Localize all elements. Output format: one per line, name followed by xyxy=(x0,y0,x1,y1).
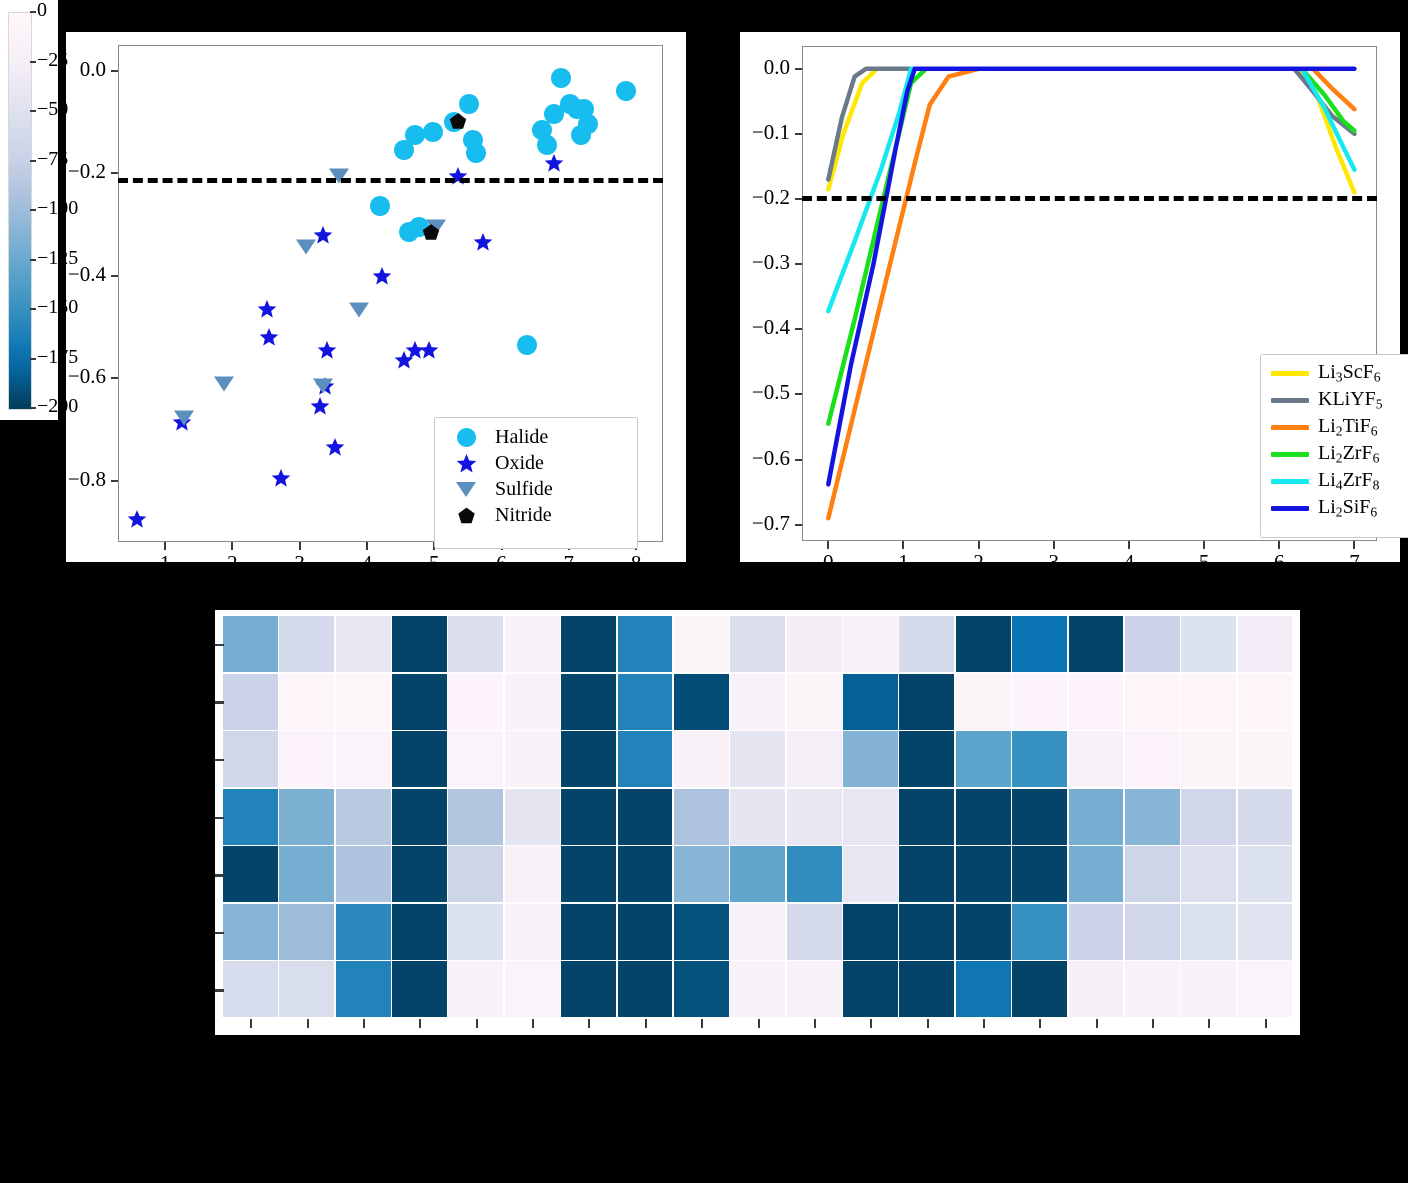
heatmap-cell[interactable] xyxy=(956,674,1011,730)
heatmap-cell[interactable] xyxy=(956,904,1011,960)
heatmap-cell[interactable] xyxy=(336,789,391,845)
scatter-x-tick-label: 4 xyxy=(347,551,387,576)
scatter-point-nitride xyxy=(421,223,440,242)
heatmap-cell[interactable] xyxy=(1069,789,1124,845)
heatmap-cell[interactable] xyxy=(1012,846,1067,902)
scatter-point-halide xyxy=(466,143,486,163)
heatmap-cell[interactable] xyxy=(956,731,1011,787)
line-legend: Li3ScF6KLiYF5Li2TiF6Li2ZrF6Li4ZrF8Li2SiF… xyxy=(1260,354,1408,538)
heatmap-cell[interactable] xyxy=(674,616,729,672)
scatter-legend-item[interactable]: Oxide xyxy=(443,450,629,476)
line-legend-item[interactable]: Li2TiF6 xyxy=(1268,414,1404,441)
heatmap-cell[interactable] xyxy=(730,674,785,730)
heatmap-cell[interactable] xyxy=(392,674,447,730)
scatter-legend-label: Nitride xyxy=(489,504,552,527)
scatter-y-tick-label: −0.2 xyxy=(66,159,106,184)
heatmap-cell[interactable] xyxy=(279,904,334,960)
heatmap-cell[interactable] xyxy=(336,674,391,730)
heatmap-cell[interactable] xyxy=(1181,616,1236,672)
line-panel: 0.0−0.1−0.2−0.3−0.4−0.5−0.6−0.7 01234567… xyxy=(740,32,1400,562)
heatmap-cell[interactable] xyxy=(223,904,278,960)
heatmap-cell[interactable] xyxy=(1125,904,1180,960)
line-legend-item[interactable]: Li2ZrF6 xyxy=(1268,441,1404,468)
heatmap-cell[interactable] xyxy=(505,731,560,787)
heatmap-cell[interactable] xyxy=(505,961,560,1017)
heatmap-cell[interactable] xyxy=(561,674,616,730)
scatter-point-sulfide xyxy=(214,377,234,392)
line-legend-label: Li2SiF6 xyxy=(1312,496,1377,520)
heatmap-cell[interactable] xyxy=(561,904,616,960)
line-legend-label: Li4ZrF8 xyxy=(1312,469,1379,493)
scatter-point-oxide xyxy=(310,396,330,416)
heatmap-cell[interactable] xyxy=(336,904,391,960)
heatmap-cell[interactable] xyxy=(279,616,334,672)
heatmap-cell[interactable] xyxy=(843,904,898,960)
scatter-point-nitride xyxy=(448,111,467,130)
scatter-y-tick-label: −0.8 xyxy=(66,467,106,492)
scatter-point-halide xyxy=(616,81,636,101)
heatmap-cell[interactable] xyxy=(505,904,560,960)
scatter-x-tick-label: 2 xyxy=(212,551,252,576)
scatter-legend-label: Sulfide xyxy=(489,478,553,501)
line-threshold-line xyxy=(802,196,1377,201)
heatmap-cell[interactable] xyxy=(448,789,503,845)
colorbar-tick-label: −75 xyxy=(37,148,68,171)
heatmap-cell[interactable] xyxy=(561,846,616,902)
heatmap-cell[interactable] xyxy=(674,961,729,1017)
heatmap-cell[interactable] xyxy=(1181,846,1236,902)
heatmap-cell[interactable] xyxy=(618,904,673,960)
heatmap-cell[interactable] xyxy=(730,904,785,960)
scatter-legend-item[interactable]: Sulfide xyxy=(443,476,629,502)
heatmap-cell[interactable] xyxy=(899,731,954,787)
heatmap-cell[interactable] xyxy=(1238,789,1293,845)
heatmap-cell[interactable] xyxy=(223,789,278,845)
heatmap-cell[interactable] xyxy=(618,789,673,845)
heatmap-cell[interactable] xyxy=(448,904,503,960)
colorbar-gradient xyxy=(8,12,32,410)
heatmap-cell[interactable] xyxy=(730,789,785,845)
heatmap-cell[interactable] xyxy=(787,961,842,1017)
heatmap-cell[interactable] xyxy=(1181,731,1236,787)
heatmap-cell[interactable] xyxy=(392,846,447,902)
heatmap-cell[interactable] xyxy=(730,846,785,902)
heatmap-cell[interactable] xyxy=(843,789,898,845)
heatmap-cell[interactable] xyxy=(561,789,616,845)
scatter-x-tick-label: 8 xyxy=(616,551,656,576)
heatmap-cell[interactable] xyxy=(392,789,447,845)
heatmap-cell[interactable] xyxy=(843,846,898,902)
colorbar-tick-label: −200 xyxy=(37,395,78,418)
scatter-x-tick-label: 5 xyxy=(414,551,454,576)
heatmap-cell[interactable] xyxy=(1012,961,1067,1017)
legend-triangle-icon xyxy=(443,482,489,497)
heatmap-cell[interactable] xyxy=(336,616,391,672)
line-legend-item[interactable]: Li4ZrF8 xyxy=(1268,468,1404,495)
heatmap-cell[interactable] xyxy=(618,616,673,672)
legend-pentagon-icon xyxy=(443,506,489,525)
heatmap-cell[interactable] xyxy=(448,616,503,672)
heatmap-cell[interactable] xyxy=(843,674,898,730)
heatmap-cell[interactable] xyxy=(1069,731,1124,787)
heatmap-cell[interactable] xyxy=(1069,616,1124,672)
heatmap-cell[interactable] xyxy=(956,961,1011,1017)
scatter-point-oxide xyxy=(473,232,493,252)
heatmap-cell[interactable] xyxy=(899,904,954,960)
heatmap-cell[interactable] xyxy=(1125,846,1180,902)
heatmap-cell[interactable] xyxy=(956,846,1011,902)
heatmap-cell[interactable] xyxy=(223,731,278,787)
heatmap-cell[interactable] xyxy=(1181,789,1236,845)
colorbar-tick-label: −100 xyxy=(37,197,78,220)
heatmap-cell[interactable] xyxy=(787,616,842,672)
scatter-point-oxide xyxy=(325,437,345,457)
scatter-point-sulfide xyxy=(313,378,333,393)
heatmap-cell[interactable] xyxy=(787,789,842,845)
scatter-point-sulfide xyxy=(174,411,194,426)
legend-line-swatch xyxy=(1268,425,1312,430)
heatmap-cell[interactable] xyxy=(279,731,334,787)
line-legend-label: Li2TiF6 xyxy=(1312,415,1378,439)
heatmap-cell[interactable] xyxy=(674,904,729,960)
heatmap-cell[interactable] xyxy=(279,961,334,1017)
line-legend-item[interactable]: KLiYF5 xyxy=(1268,387,1404,414)
heatmap-cell[interactable] xyxy=(336,731,391,787)
heatmap-cell[interactable] xyxy=(223,674,278,730)
heatmap-cell[interactable] xyxy=(336,961,391,1017)
line-legend-label: KLiYF5 xyxy=(1312,388,1383,412)
heatmap-panel xyxy=(215,610,1300,1035)
scatter-point-oxide xyxy=(259,327,279,347)
heatmap-cell[interactable] xyxy=(1238,961,1293,1017)
heatmap-cell[interactable] xyxy=(730,731,785,787)
heatmap-cell[interactable] xyxy=(336,846,391,902)
colorbar-tick-label: −50 xyxy=(37,98,68,121)
heatmap-cell[interactable] xyxy=(730,616,785,672)
heatmap-cell[interactable] xyxy=(1012,789,1067,845)
heatmap-cell[interactable] xyxy=(787,731,842,787)
line-legend-item[interactable]: Li3ScF6 xyxy=(1268,360,1404,387)
scatter-point-oxide xyxy=(127,509,147,529)
line-legend-item[interactable]: Li2SiF6 xyxy=(1268,495,1404,522)
heatmap-cell[interactable] xyxy=(1238,904,1293,960)
legend-line-swatch xyxy=(1268,452,1312,457)
heatmap-cell[interactable] xyxy=(1012,674,1067,730)
heatmap-cell[interactable] xyxy=(618,674,673,730)
legend-star-icon xyxy=(443,453,489,474)
heatmap-cell[interactable] xyxy=(1069,846,1124,902)
heatmap-cell[interactable] xyxy=(843,961,898,1017)
colorbar-tick-label: 0 xyxy=(37,0,47,22)
legend-line-swatch xyxy=(1268,479,1312,484)
heatmap-cell[interactable] xyxy=(843,731,898,787)
heatmap-cell[interactable] xyxy=(223,961,278,1017)
heatmap-cell[interactable] xyxy=(899,674,954,730)
heatmap-cell[interactable] xyxy=(1012,904,1067,960)
heatmap-cell[interactable] xyxy=(505,789,560,845)
colorbar-tick-label: −175 xyxy=(37,346,78,369)
scatter-point-oxide xyxy=(271,468,291,488)
heatmap-cell[interactable] xyxy=(561,616,616,672)
scatter-legend: Halide Oxide Sulfide Nitride xyxy=(434,417,638,549)
colorbar-tick-label: −125 xyxy=(37,247,78,270)
heatmap-cell[interactable] xyxy=(561,961,616,1017)
scatter-point-oxide xyxy=(317,340,337,360)
scatter-x-tick-label: 1 xyxy=(145,551,185,576)
scatter-point-sulfide xyxy=(349,303,369,318)
heatmap-cell[interactable] xyxy=(1125,731,1180,787)
heatmap-cell[interactable] xyxy=(223,846,278,902)
heatmap-cell[interactable] xyxy=(618,961,673,1017)
heatmap-cell[interactable] xyxy=(1181,674,1236,730)
heatmap-cell[interactable] xyxy=(674,674,729,730)
heatmap-cell[interactable] xyxy=(279,674,334,730)
heatmap-cell[interactable] xyxy=(1125,616,1180,672)
heatmap-cell[interactable] xyxy=(899,616,954,672)
line-legend-label: Li2ZrF6 xyxy=(1312,442,1379,466)
heatmap-cell[interactable] xyxy=(505,846,560,902)
heatmap-colorbar-panel: 0−25−50−75−100−125−150−175−200 xyxy=(0,0,58,420)
heatmap-cell[interactable] xyxy=(618,846,673,902)
colorbar-tick-label: −25 xyxy=(37,49,68,72)
scatter-y-tick-label: 0.0 xyxy=(66,57,106,82)
heatmap-cell[interactable] xyxy=(618,731,673,787)
scatter-legend-label: Halide xyxy=(489,426,548,449)
scatter-point-sulfide xyxy=(296,240,316,255)
heatmap-cell[interactable] xyxy=(392,904,447,960)
heatmap-cell[interactable] xyxy=(448,674,503,730)
scatter-point-halide xyxy=(517,335,537,355)
heatmap-cell[interactable] xyxy=(223,616,278,672)
heatmap-cell[interactable] xyxy=(730,961,785,1017)
heatmap-cell[interactable] xyxy=(392,731,447,787)
legend-circle-icon xyxy=(457,428,476,447)
scatter-x-tick-label: 6 xyxy=(482,551,522,576)
heatmap-cell[interactable] xyxy=(787,904,842,960)
scatter-legend-item[interactable]: Nitride xyxy=(443,502,629,528)
heatmap-cell[interactable] xyxy=(1069,904,1124,960)
heatmap-cell[interactable] xyxy=(899,846,954,902)
heatmap-cell[interactable] xyxy=(448,961,503,1017)
heatmap-cell[interactable] xyxy=(1069,674,1124,730)
heatmap-cell[interactable] xyxy=(1125,674,1180,730)
heatmap-cell[interactable] xyxy=(956,616,1011,672)
heatmap-cell[interactable] xyxy=(1069,961,1124,1017)
scatter-point-oxide xyxy=(257,299,277,319)
heatmap-cell[interactable] xyxy=(787,846,842,902)
scatter-panel: 0.0−0.2−0.4−0.6−0.8 12345678 Halide Oxid… xyxy=(66,32,686,562)
heatmap-grid xyxy=(223,616,1294,1019)
heatmap-cell[interactable] xyxy=(279,789,334,845)
heatmap-cell[interactable] xyxy=(505,616,560,672)
scatter-point-halide xyxy=(571,125,591,145)
heatmap-cell[interactable] xyxy=(1125,961,1180,1017)
heatmap-cell[interactable] xyxy=(1238,731,1293,787)
scatter-point-oxide xyxy=(544,153,564,173)
heatmap-cell[interactable] xyxy=(899,961,954,1017)
scatter-legend-label: Oxide xyxy=(489,452,544,475)
scatter-threshold-line xyxy=(118,178,663,183)
line-legend-label: Li3ScF6 xyxy=(1312,361,1381,385)
heatmap-cell[interactable] xyxy=(392,616,447,672)
heatmap-cell[interactable] xyxy=(392,961,447,1017)
scatter-point-halide xyxy=(423,122,443,142)
heatmap-cell[interactable] xyxy=(279,846,334,902)
heatmap-cell[interactable] xyxy=(843,616,898,672)
heatmap-cell[interactable] xyxy=(561,731,616,787)
heatmap-cell[interactable] xyxy=(1125,789,1180,845)
heatmap-cell[interactable] xyxy=(899,789,954,845)
scatter-point-halide xyxy=(370,196,390,216)
heatmap-cell[interactable] xyxy=(1012,616,1067,672)
colorbar-tick-label: −150 xyxy=(37,296,78,319)
heatmap-cell[interactable] xyxy=(674,731,729,787)
heatmap-cell[interactable] xyxy=(674,846,729,902)
legend-line-swatch xyxy=(1268,371,1312,376)
scatter-x-tick-label: 7 xyxy=(549,551,589,576)
heatmap-cell[interactable] xyxy=(448,731,503,787)
scatter-point-oxide xyxy=(419,340,439,360)
scatter-point-oxide xyxy=(372,266,392,286)
heatmap-cell[interactable] xyxy=(674,789,729,845)
heatmap-cell[interactable] xyxy=(505,674,560,730)
heatmap-cell[interactable] xyxy=(1181,904,1236,960)
legend-line-swatch xyxy=(1268,506,1312,511)
scatter-point-halide xyxy=(551,68,571,88)
heatmap-cell[interactable] xyxy=(1181,961,1236,1017)
scatter-x-tick-label: 3 xyxy=(280,551,320,576)
heatmap-cell[interactable] xyxy=(1238,674,1293,730)
heatmap-cell[interactable] xyxy=(787,674,842,730)
legend-line-swatch xyxy=(1268,398,1312,403)
heatmap-cell[interactable] xyxy=(448,846,503,902)
scatter-legend-item[interactable]: Halide xyxy=(443,424,629,450)
heatmap-cell[interactable] xyxy=(956,789,1011,845)
heatmap-cell[interactable] xyxy=(1238,846,1293,902)
heatmap-cell[interactable] xyxy=(1012,731,1067,787)
heatmap-cell[interactable] xyxy=(1238,616,1293,672)
